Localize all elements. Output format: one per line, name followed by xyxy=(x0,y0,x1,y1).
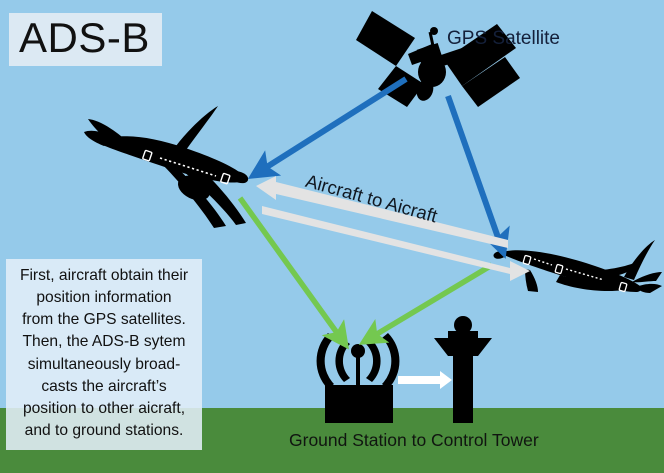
info-line: Then, the ADS-B sytem xyxy=(10,331,198,353)
info-line: from the GPS satellites. xyxy=(10,309,198,331)
ground-station-icon xyxy=(317,333,400,423)
arrow-ground-station-to-tower xyxy=(398,371,452,389)
control-tower-icon xyxy=(434,316,492,423)
adsb-diagram: ADS-B First, aircraft obtain their posit… xyxy=(0,0,664,473)
arrow-satellite-to-right-aircraft xyxy=(448,96,500,243)
title-badge: ADS-B xyxy=(9,13,162,66)
info-line: simultaneously broad- xyxy=(10,354,198,376)
arrow-right-aircraft-to-ground-station xyxy=(372,265,492,337)
aircraft-left-icon xyxy=(84,106,248,228)
arrow-aircraft-to-aircraft xyxy=(256,176,530,281)
info-line: and to ground stations. xyxy=(10,420,198,442)
ground-station-to-control-tower-label: Ground Station to Control Tower xyxy=(289,430,539,451)
info-line: position information xyxy=(10,287,198,309)
info-line: First, aircraft obtain their xyxy=(10,265,198,287)
arrow-satellite-to-left-aircraft xyxy=(262,79,406,170)
info-line: position to other aicraft, xyxy=(10,398,198,420)
info-text-box: First, aircraft obtain their position in… xyxy=(6,259,202,450)
gps-satellite-label: GPS Satellite xyxy=(447,28,560,50)
info-line: casts the aircraft’s xyxy=(10,376,198,398)
